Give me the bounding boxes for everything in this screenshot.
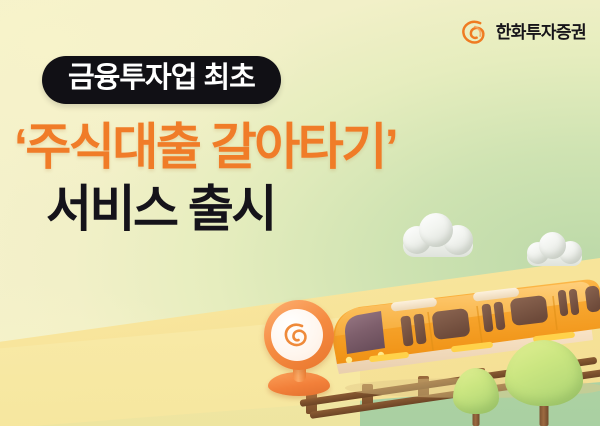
tree-small-icon [453, 368, 499, 426]
cloud-small-icon [527, 232, 582, 266]
promo-banner: 한화투자증권 금융투자업 최초 ‘주식대출 갈아타기’ 서비스 출시 [0, 0, 600, 426]
headline-block: 금융투자업 최초 ‘주식대출 갈아타기’ 서비스 출시 [0, 56, 600, 237]
badge-first-in-industry: 금융투자업 최초 [42, 56, 281, 104]
signpost-logo-icon [271, 309, 323, 361]
tree-large-icon [505, 340, 583, 426]
station-signpost [262, 300, 338, 396]
brand-logo: 한화투자증권 [459, 17, 586, 47]
brand-name: 한화투자증권 [496, 24, 586, 41]
headline-subtitle: 서비스 출시 [46, 181, 600, 237]
hanwha-spiral-logo-icon [459, 17, 489, 47]
headline-highlight: ‘주식대출 갈아타기’ [14, 119, 600, 175]
